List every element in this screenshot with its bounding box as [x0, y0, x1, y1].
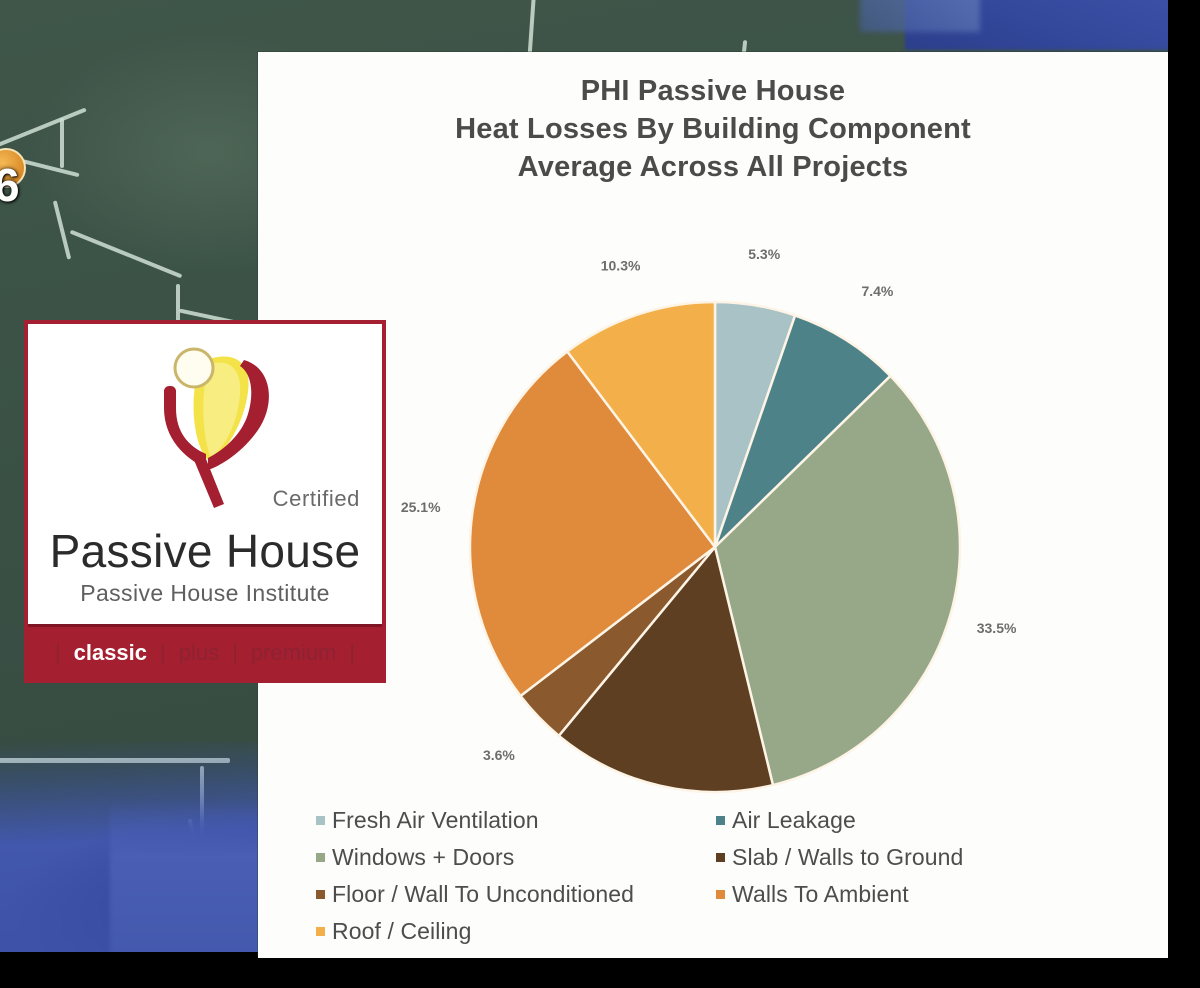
pie-chart[interactable]: 5.3%7.4%33.5%14.8%3.6%25.1%10.3% [258, 202, 1168, 802]
legend-item-label: Air Leakage [732, 807, 856, 834]
map-border-line [60, 118, 64, 168]
logo-tier-bar: |classic|plus|premium| [28, 624, 382, 679]
passive-house-glyph-icon [148, 346, 288, 516]
chart-legend: Fresh Air VentilationAir LeakageWindows … [316, 802, 1116, 950]
passive-house-logo: Certified Passive House Passive House In… [24, 320, 386, 683]
logo-tier-plus: plus [166, 640, 232, 666]
logo-tier-separator: | [349, 640, 355, 666]
pie-slices [470, 302, 960, 792]
legend-item-label: Windows + Doors [332, 844, 514, 871]
legend-item-label: Walls To Ambient [732, 881, 909, 908]
slide-title-line-1: PHI Passive House [258, 72, 1168, 110]
legend-swatch-icon [716, 816, 725, 825]
pie-chart-svg: 5.3%7.4%33.5%14.8%3.6%25.1%10.3% [258, 202, 1168, 802]
passive-house-mark-icon [148, 346, 288, 516]
screen: 6 PHI Passive House Heat Losses By Build… [0, 0, 1200, 988]
legend-item-label: Slab / Walls to Ground [732, 844, 963, 871]
legend-item-label: Floor / Wall To Unconditioned [332, 881, 634, 908]
logo-tier-premium: premium [238, 640, 350, 666]
legend-item[interactable]: Roof / Ceiling [316, 918, 716, 945]
legend-swatch-icon [716, 853, 725, 862]
slide-title-line-2: Heat Losses By Building Component [258, 110, 1168, 148]
legend-swatch-icon [716, 890, 725, 899]
map-water-northeast-2 [860, 0, 980, 32]
legend-item[interactable]: Walls To Ambient [716, 881, 1116, 908]
pie-slice-label: 3.6% [483, 747, 515, 763]
pie-slice-label: 5.3% [748, 246, 780, 262]
presentation-slide: PHI Passive House Heat Losses By Buildin… [258, 52, 1168, 958]
logo-tier-classic: classic [61, 640, 160, 666]
slide-title-line-3: Average Across All Projects [258, 148, 1168, 186]
legend-swatch-icon [316, 927, 325, 936]
logo-certified-label: Certified [273, 486, 360, 512]
legend-item-label: Roof / Ceiling [332, 918, 471, 945]
legend-swatch-icon [316, 816, 325, 825]
legend-item[interactable]: Windows + Doors [316, 844, 716, 871]
right-bezel [1168, 0, 1200, 988]
legend-item[interactable]: Fresh Air Ventilation [316, 807, 716, 834]
pie-slice-label: 10.3% [601, 257, 641, 273]
legend-item[interactable]: Air Leakage [716, 807, 1116, 834]
legend-item[interactable]: Floor / Wall To Unconditioned [316, 881, 716, 908]
map-marker-label: 6 [0, 158, 19, 212]
chart-legend-grid: Fresh Air VentilationAir LeakageWindows … [316, 802, 1116, 950]
legend-swatch-icon [316, 890, 325, 899]
legend-swatch-icon [316, 853, 325, 862]
logo-institute-label: Passive House Institute [28, 580, 382, 607]
logo-main-title: Passive House [28, 524, 382, 578]
legend-item[interactable]: Slab / Walls to Ground [716, 844, 1116, 871]
pie-slice-label: 33.5% [977, 620, 1017, 636]
pie-slice-label: 25.1% [401, 499, 441, 515]
pie-slice-label: 7.4% [861, 283, 893, 299]
legend-item-label: Fresh Air Ventilation [332, 807, 539, 834]
bottom-bezel [0, 958, 1200, 988]
slide-title: PHI Passive House Heat Losses By Buildin… [258, 72, 1168, 186]
